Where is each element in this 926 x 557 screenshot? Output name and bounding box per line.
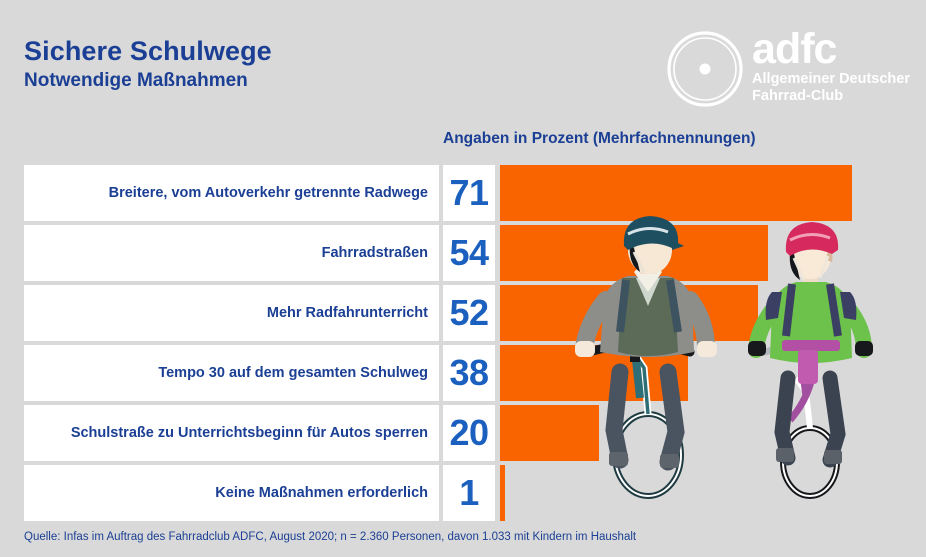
row-label-box: Keine Maßnahmen erforderlich [24,465,439,521]
bar-track [500,165,926,221]
bar [500,285,758,341]
row-value-box: 38 [443,345,495,401]
row-value-box: 1 [443,465,495,521]
source-note: Quelle: Infas im Auftrag des Fahrradclub… [24,531,636,543]
row-label: Schulstraße zu Unterrichtsbeginn für Aut… [71,425,428,441]
adfc-wheel-icon [664,28,746,110]
bar [500,165,852,221]
row-label: Fahrradstraßen [322,245,428,261]
page-subtitle: Notwendige Maßnahmen [24,70,272,92]
header-block: Sichere Schulwege Notwendige Maßnahmen [24,36,272,92]
bar-track [500,345,926,401]
infographic-root: Sichere Schulwege Notwendige Maßnahmen a… [0,0,926,557]
chart-row: Keine Maßnahmen erforderlich1 [0,465,926,521]
row-label: Breitere, vom Autoverkehr getrennte Radw… [109,185,428,201]
row-label-box: Mehr Radfahrunterricht [24,285,439,341]
row-value-box: 54 [443,225,495,281]
adfc-subline-1: Allgemeiner Deutscher [752,71,910,87]
bar [500,345,688,401]
bar [500,465,505,521]
row-label: Mehr Radfahrunterricht [267,305,428,321]
row-value-box: 20 [443,405,495,461]
chart-unit-note: Angaben in Prozent (Mehrfachnennungen) [443,130,756,148]
row-value: 38 [449,355,488,391]
chart-row: Schulstraße zu Unterrichtsbeginn für Aut… [0,405,926,461]
row-label-box: Breitere, vom Autoverkehr getrennte Radw… [24,165,439,221]
row-value: 54 [449,235,488,271]
adfc-subline-2: Fahrrad-Club [752,88,910,104]
adfc-wordmark: adfc [752,30,910,70]
row-value: 1 [459,475,479,511]
row-label-box: Schulstraße zu Unterrichtsbeginn für Aut… [24,405,439,461]
chart-row: Tempo 30 auf dem gesamten Schulweg38 [0,345,926,401]
row-value: 20 [449,415,488,451]
adfc-logo: adfc Allgemeiner Deutscher Fahrrad-Club [664,26,910,110]
chart-row: Fahrradstraßen54 [0,225,926,281]
chart-row: Breitere, vom Autoverkehr getrennte Radw… [0,165,926,221]
bar-track [500,405,926,461]
row-value: 71 [449,175,488,211]
row-value: 52 [449,295,488,331]
row-label: Tempo 30 auf dem gesamten Schulweg [158,365,428,381]
chart-row: Mehr Radfahrunterricht52 [0,285,926,341]
bar [500,225,768,281]
chart-rows: Breitere, vom Autoverkehr getrennte Radw… [0,165,926,525]
bar-track [500,285,926,341]
adfc-logo-text: adfc Allgemeiner Deutscher Fahrrad-Club [752,26,910,104]
page-title: Sichere Schulwege [24,36,272,66]
row-value-box: 71 [443,165,495,221]
bar-track [500,465,926,521]
row-label-box: Tempo 30 auf dem gesamten Schulweg [24,345,439,401]
row-label-box: Fahrradstraßen [24,225,439,281]
row-label: Keine Maßnahmen erforderlich [215,485,428,501]
bar-track [500,225,926,281]
bar [500,405,599,461]
row-value-box: 52 [443,285,495,341]
